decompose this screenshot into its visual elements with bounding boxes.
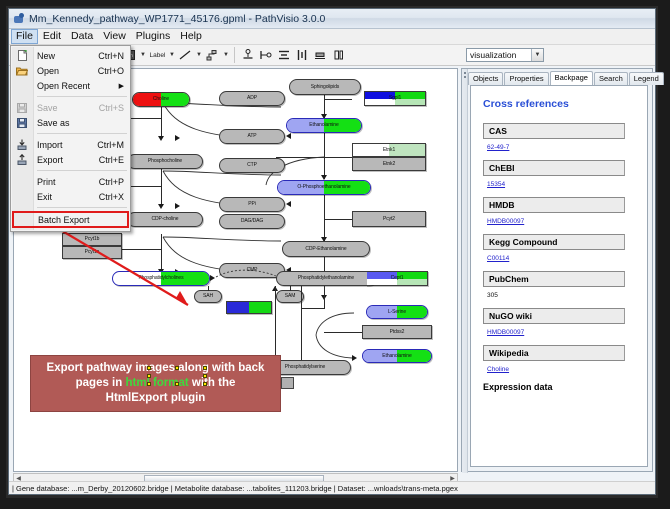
selection-handle-sw[interactable] xyxy=(147,382,151,386)
file-menu-print[interactable]: Print Ctrl+P xyxy=(11,174,130,189)
menu-file[interactable]: File xyxy=(11,29,38,44)
edge-ptdss2 xyxy=(324,332,362,333)
menu-plugins[interactable]: Plugins xyxy=(131,29,175,44)
node-o-phosphoethanolamine[interactable]: O-Phosphoethanolamine xyxy=(277,180,371,195)
callout-line-3: HtmlExport plugin xyxy=(106,391,206,406)
menu-bar: File Edit Data View Plugins Help xyxy=(9,29,655,45)
node-label: ATP xyxy=(247,134,256,139)
file-menu-open-recent-label: Open Recent xyxy=(37,81,90,91)
file-menu-export-accel: Ctrl+E xyxy=(99,155,124,165)
pathvisio-window: Mm_Kennedy_pathway_WP1771_45176.gpml - P… xyxy=(8,8,656,495)
window-frame: Mm_Kennedy_pathway_WP1771_45176.gpml - P… xyxy=(0,0,670,509)
title-bar: Mm_Kennedy_pathway_WP1771_45176.gpml - P… xyxy=(9,9,655,29)
node-label: Phosphatidylserine xyxy=(285,365,325,370)
node-pemt[interactable] xyxy=(226,301,272,314)
file-menu-exit[interactable]: Exit Ctrl+X xyxy=(11,189,130,204)
xref-link-wikipedia[interactable]: Choline xyxy=(487,366,509,373)
node-ppi[interactable]: PPi xyxy=(219,197,285,212)
xref-value-cas[interactable]: 62-49-7 xyxy=(487,144,637,151)
node-label: Ethanolamine xyxy=(382,354,411,359)
status-text: | Gene database: ...m_Derby_20120602.bri… xyxy=(12,484,458,493)
node-cdp-choline[interactable]: CDP-choline xyxy=(127,212,203,227)
xref-header-cas: CAS xyxy=(483,123,625,139)
edge-pcyt2 xyxy=(324,219,352,220)
side-dock: Objects Properties Backpage Search Legen… xyxy=(461,68,653,472)
export-icon xyxy=(15,154,29,166)
status-bar: | Gene database: ...m_Derby_20120602.bri… xyxy=(9,481,655,494)
selection-handle-e[interactable] xyxy=(203,374,207,378)
file-menu-save-accel: Ctrl+S xyxy=(99,103,124,113)
node-label: CDP-Ethanolamine xyxy=(305,247,346,252)
visualization-value: visualization xyxy=(470,50,516,60)
file-menu-open-recent[interactable]: Open Recent ▶ xyxy=(11,78,130,93)
node-label: Phosphocholine xyxy=(148,159,182,164)
menu-help[interactable]: Help xyxy=(175,29,207,44)
fill-green xyxy=(249,302,271,313)
common-height-icon[interactable] xyxy=(329,47,347,64)
node-ethanolamine-2[interactable]: Ethanolamine xyxy=(362,349,432,363)
node-label: Sgpl1 xyxy=(389,96,401,101)
xref-value-nugo[interactable]: HMDB00097 xyxy=(487,329,637,336)
selection-handle-n[interactable] xyxy=(175,366,179,370)
xref-header-pubchem: PubChem xyxy=(483,271,625,287)
file-menu-save-as[interactable]: Save as xyxy=(11,115,130,130)
node-label: CDP-choline xyxy=(152,217,179,222)
save-disk-icon xyxy=(15,102,29,114)
node-label: Etnk2 xyxy=(383,162,395,167)
node-label: Phosphatidylethanolamine xyxy=(298,276,354,281)
node-label: L-Serine xyxy=(388,310,406,315)
visualization-combobox[interactable]: visualization ▼ xyxy=(466,48,544,62)
node-phosphatidylcholines[interactable]: Phosphatidylcholines xyxy=(112,271,210,286)
callout-highlight: html format xyxy=(125,377,188,389)
file-menu-save-as-label: Save as xyxy=(37,118,70,128)
xref-value-chebi[interactable]: 15354 xyxy=(487,181,637,188)
arrow-right-atp xyxy=(175,135,180,141)
file-menu-open[interactable]: Open Ctrl+O xyxy=(11,63,130,78)
file-menu-open-accel: Ctrl+O xyxy=(98,66,124,76)
xref-header-wikipedia: Wikipedia xyxy=(483,345,625,361)
node-label: ADP xyxy=(247,96,257,101)
node-dag[interactable]: DAG/DAG xyxy=(219,214,285,229)
selection-handle-ne[interactable] xyxy=(203,366,207,370)
selection-handle-w[interactable] xyxy=(147,374,151,378)
node-label: Ptdss2 xyxy=(390,330,405,335)
callout-line-2b: with the xyxy=(189,377,236,389)
callout-line-1: Export pathway images along with back xyxy=(47,361,265,376)
tab-legend[interactable]: Legend xyxy=(629,72,664,85)
xref-header-hmdb: HMDB xyxy=(483,197,625,213)
xref-value-wikipedia[interactable]: Choline xyxy=(487,366,637,373)
submenu-arrow-icon: ▶ xyxy=(119,82,124,90)
xref-value-pubchem: 305 xyxy=(487,292,637,299)
selection-handle-s[interactable] xyxy=(175,382,179,386)
toolbar-separator-2 xyxy=(234,47,235,63)
node-sphingolipids[interactable]: Sphingolipids xyxy=(289,79,361,95)
node-sgpl1[interactable]: Sgpl1 xyxy=(364,91,426,106)
dock-drag-handle[interactable] xyxy=(462,69,468,473)
xref-value-hmdb[interactable]: HMDB00097 xyxy=(487,218,637,225)
tab-search[interactable]: Search xyxy=(594,72,628,85)
file-menu-export-label: Export xyxy=(37,155,63,165)
node-label: SAH xyxy=(203,294,213,299)
edge-ope-cdpetn xyxy=(324,195,325,241)
window-title: Mm_Kennedy_pathway_WP1771_45176.gpml - P… xyxy=(29,13,325,25)
fill-blue xyxy=(227,302,249,313)
menu-divider-2 xyxy=(37,133,127,134)
arrow-right-ppi xyxy=(175,203,180,209)
label-dropdown-icon[interactable]: ▼ xyxy=(167,52,176,58)
node-phosphocholine[interactable]: Phosphocholine xyxy=(127,154,203,169)
node-label: Choline xyxy=(153,97,169,102)
open-folder-icon xyxy=(15,65,29,77)
xref-link-kegg[interactable]: C00114 xyxy=(487,255,509,262)
edge-pe-ps xyxy=(301,286,302,366)
tab-backpage[interactable]: Backpage xyxy=(550,71,593,85)
node-cept1[interactable]: Cept1 xyxy=(366,271,428,286)
datanode-dropdown-icon[interactable]: ▼ xyxy=(139,52,148,58)
align-top-icon[interactable] xyxy=(239,47,257,64)
node-etnk2[interactable]: Etnk2 xyxy=(352,157,426,171)
align-columns-icon[interactable] xyxy=(293,47,311,64)
tab-objects[interactable]: Objects xyxy=(468,72,503,85)
file-menu-exit-accel: Ctrl+X xyxy=(99,192,124,202)
file-menu-save-label: Save xyxy=(37,103,58,113)
node-label: PPi xyxy=(248,202,255,207)
edge-sgpl1 xyxy=(324,99,352,100)
dock-tabstrip: Objects Properties Backpage Search Legen… xyxy=(468,71,650,85)
menu-view[interactable]: View xyxy=(98,29,131,44)
node-label: CTP xyxy=(247,163,257,168)
node-label: Etnk1 xyxy=(383,148,395,153)
edge-ps-up-2 xyxy=(275,286,276,310)
node-adp[interactable]: ADP xyxy=(219,91,285,106)
xref-header-nugo: NuGO wiki xyxy=(483,308,625,324)
menu-divider-1 xyxy=(37,96,127,97)
file-menu-import-accel: Ctrl+M xyxy=(97,140,124,150)
xref-link-nugo[interactable]: HMDB00097 xyxy=(487,329,524,336)
node-ethanolamine-1[interactable]: Ethanolamine xyxy=(286,118,362,133)
menu-data[interactable]: Data xyxy=(66,29,98,44)
tab-properties[interactable]: Properties xyxy=(504,72,548,85)
file-menu-print-accel: Ctrl+P xyxy=(99,177,124,187)
node-label: Ethanolamine xyxy=(309,123,338,128)
xref-link-chebi[interactable]: 15354 xyxy=(487,181,505,188)
node-label: CMP xyxy=(247,268,258,273)
callout-line-2a: pages in xyxy=(76,377,126,389)
node-label: Pcyt1a xyxy=(85,250,100,255)
cross-references-heading: Cross references xyxy=(483,98,637,110)
file-menu-open-label: Open xyxy=(37,66,59,76)
node-ctp[interactable]: CTP xyxy=(219,158,285,173)
xref-header-kegg: Kegg Compound xyxy=(483,234,625,250)
selection-handle-se[interactable] xyxy=(203,382,207,386)
import-icon xyxy=(15,139,29,151)
node-label: DAG/DAG xyxy=(241,219,263,224)
node-cdp-ethanolamine[interactable]: CDP-Ethanolamine xyxy=(282,241,370,257)
pathvisio-app-icon xyxy=(13,13,25,25)
node-label: Pcyt2 xyxy=(383,217,395,222)
node-label: Pcyt1b xyxy=(85,237,100,242)
label-icon[interactable]: Label xyxy=(148,52,168,59)
menu-edit[interactable]: Edit xyxy=(38,29,66,44)
backpage-content: Cross references CAS 62-49-7 ChEBI 15354… xyxy=(471,86,647,396)
backpage-panel: Cross references CAS 62-49-7 ChEBI 15354… xyxy=(470,85,648,467)
xref-header-chebi: ChEBI xyxy=(483,160,625,176)
interaction-icon[interactable] xyxy=(203,47,221,64)
edge-sam xyxy=(290,286,291,291)
chevron-down-icon-2[interactable]: ▼ xyxy=(531,49,543,61)
file-menu-batch-export[interactable]: Batch Export xyxy=(12,211,129,228)
node-label: Cept1 xyxy=(391,276,404,281)
serine-curve xyxy=(310,309,358,363)
node-sam[interactable]: SAM xyxy=(276,290,304,303)
file-menu-new-accel: Ctrl+N xyxy=(98,51,124,61)
xref-link-hmdb[interactable]: HMDB00097 xyxy=(487,218,524,225)
file-menu-save: Save Ctrl+S xyxy=(11,100,130,115)
file-menu-exit-label: Exit xyxy=(37,192,52,202)
node-pcyt1a[interactable]: Pcyt1a xyxy=(62,246,122,259)
callout-annotation: Export pathway images along with back pa… xyxy=(30,355,281,412)
align-rows-icon[interactable] xyxy=(275,47,293,64)
node-label: SAM xyxy=(285,294,296,299)
callout-connector xyxy=(281,377,294,389)
node-sah[interactable]: SAH xyxy=(194,290,222,303)
file-menu-print-label: Print xyxy=(37,177,56,187)
node-etnk1[interactable]: Etnk1 xyxy=(352,143,426,157)
edge-sah xyxy=(208,286,209,291)
file-menu-export[interactable]: Export Ctrl+E xyxy=(11,152,130,167)
interaction-dropdown-icon[interactable]: ▼ xyxy=(221,52,230,58)
node-label: Phosphatidylcholines xyxy=(139,276,184,281)
edge-pcyt1-left xyxy=(122,249,162,250)
node-phosphatidylethanolamine[interactable]: Phosphatidylethanolamine xyxy=(276,271,376,286)
expression-data-heading: Expression data xyxy=(483,382,637,392)
file-menu-import[interactable]: Import Ctrl+M xyxy=(11,137,130,152)
save-as-disk-icon xyxy=(15,117,29,129)
align-left-icon[interactable] xyxy=(257,47,275,64)
xref-link-cas[interactable]: 62-49-7 xyxy=(487,144,509,151)
node-choline[interactable]: Choline xyxy=(132,92,190,107)
arrow-left-ppi xyxy=(286,201,291,207)
file-menu-new[interactable]: New Ctrl+N xyxy=(11,48,130,63)
callout-line-2: pages in html format with the xyxy=(76,376,236,391)
file-menu-import-label: Import xyxy=(37,140,63,150)
edge-pe-serine xyxy=(324,286,325,308)
file-menu-batch-export-label: Batch Export xyxy=(38,215,90,225)
node-pcyt2[interactable]: Pcyt2 xyxy=(352,211,426,227)
line-dropdown-icon[interactable]: ▼ xyxy=(194,52,203,58)
node-l-serine[interactable]: L-Serine xyxy=(366,305,428,319)
new-document-icon xyxy=(15,50,29,62)
node-atp[interactable]: ATP xyxy=(219,129,285,144)
edge-etnk xyxy=(324,157,352,158)
node-label: Sphingolipids xyxy=(311,85,339,90)
menu-divider-3 xyxy=(37,170,127,171)
arrow-right-etn2 xyxy=(352,355,357,361)
selection-handle-nw[interactable] xyxy=(147,366,151,370)
file-menu-popup[interactable]: New Ctrl+N Open Ctrl+O Open Recent ▶ Sav… xyxy=(10,45,131,232)
file-menu-new-label: New xyxy=(37,51,55,61)
arrow-left-atp xyxy=(286,133,291,139)
xref-value-kegg[interactable]: C00114 xyxy=(487,255,637,262)
node-label: O-Phosphoethanolamine xyxy=(297,185,350,190)
menu-divider-4 xyxy=(37,207,127,208)
node-pcyt1b[interactable]: Pcyt1b xyxy=(62,233,122,246)
line-icon[interactable] xyxy=(176,47,194,64)
node-ptdss2[interactable]: Ptdss2 xyxy=(362,325,432,339)
common-width-icon[interactable] xyxy=(311,47,329,64)
